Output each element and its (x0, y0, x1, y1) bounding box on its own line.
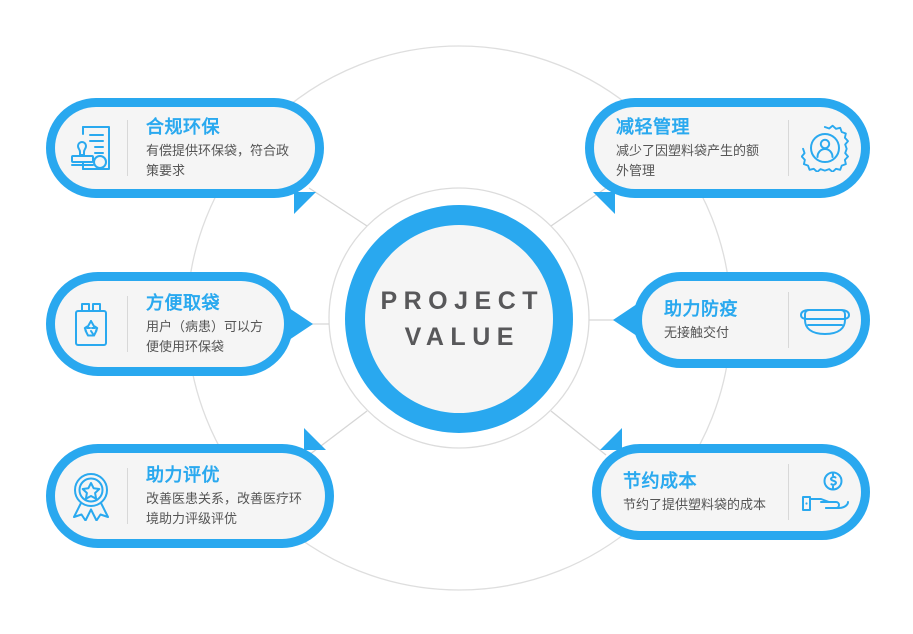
card-tail-epidemic (613, 304, 637, 336)
card-compliance[interactable]: 合规环保 有偿提供环保袋，符合政策要求 (46, 98, 324, 198)
card-epidemic-inner: 助力防疫 无接触交付 (642, 281, 861, 359)
card-manage[interactable]: 减轻管理 减少了因塑料袋产生的额外管理 (585, 98, 870, 198)
card-manage-inner: 减轻管理 减少了因塑料袋产生的额外管理 (594, 107, 861, 189)
card-epidemic[interactable]: 助力防疫 无接触交付 (633, 272, 870, 368)
card-cost[interactable]: 节约成本 节约了提供塑料袋的成本 (592, 444, 870, 540)
card-rating-text: 助力评优 改善医患关系，改善医疗环境助力评级评优 (128, 463, 325, 530)
document-stamp-icon (55, 124, 127, 172)
card-tail-manage (593, 192, 615, 214)
card-description: 减少了因塑料袋产生的额外管理 (616, 141, 770, 181)
card-title: 助力评优 (146, 463, 311, 487)
card-tail-compliance (294, 192, 316, 214)
card-description: 节约了提供塑料袋的成本 (623, 495, 770, 515)
card-title: 节约成本 (623, 469, 770, 493)
card-title: 助力防疫 (664, 297, 770, 321)
hub-title-line-1: PROJECT (374, 283, 544, 319)
card-description: 无接触交付 (664, 323, 770, 343)
card-description: 有偿提供环保袋，符合政策要求 (146, 141, 301, 181)
card-description: 用户（病患）可以方便使用环保袋 (146, 317, 270, 357)
connector-compliance (309, 188, 367, 226)
card-title: 方便取袋 (146, 291, 270, 315)
card-compliance-inner: 合规环保 有偿提供环保袋，符合政策要求 (55, 107, 315, 189)
recycle-bag-icon (55, 300, 127, 348)
card-bag[interactable]: 方便取袋 用户（病患）可以方便使用环保袋 (46, 272, 293, 376)
center-hub-inner: PROJECT VALUE (365, 225, 553, 413)
card-epidemic-text: 助力防疫 无接触交付 (642, 297, 788, 343)
hub-title-line-2: VALUE (398, 319, 520, 355)
card-title: 减轻管理 (616, 115, 770, 139)
card-cost-inner: 节约成本 节约了提供塑料袋的成本 (601, 453, 861, 531)
card-compliance-text: 合规环保 有偿提供环保袋，符合政策要求 (128, 115, 315, 182)
card-tail-rating (304, 428, 326, 450)
card-cost-text: 节约成本 节约了提供塑料袋的成本 (601, 469, 788, 515)
center-hub: PROJECT VALUE (345, 205, 573, 433)
card-bag-inner: 方便取袋 用户（病患）可以方便使用环保袋 (55, 281, 284, 367)
card-tail-cost (600, 428, 622, 450)
card-bag-text: 方便取袋 用户（病患）可以方便使用环保袋 (128, 291, 284, 358)
connector-cost (551, 411, 606, 455)
gear-person-icon (789, 124, 861, 172)
face-mask-icon (789, 302, 861, 338)
infographic-canvas: PROJECT VALUE (0, 0, 913, 634)
award-medal-icon (55, 471, 127, 521)
card-manage-text: 减轻管理 减少了因塑料袋产生的额外管理 (594, 115, 788, 182)
card-rating-inner: 助力评优 改善医患关系，改善医疗环境助力评级评优 (55, 453, 325, 539)
card-description: 改善医患关系，改善医疗环境助力评级评优 (146, 489, 311, 529)
card-rating[interactable]: 助力评优 改善医患关系，改善医疗环境助力评级评优 (46, 444, 334, 548)
card-title: 合规环保 (146, 115, 301, 139)
hand-money-icon (789, 470, 861, 514)
card-tail-bag (289, 308, 313, 340)
